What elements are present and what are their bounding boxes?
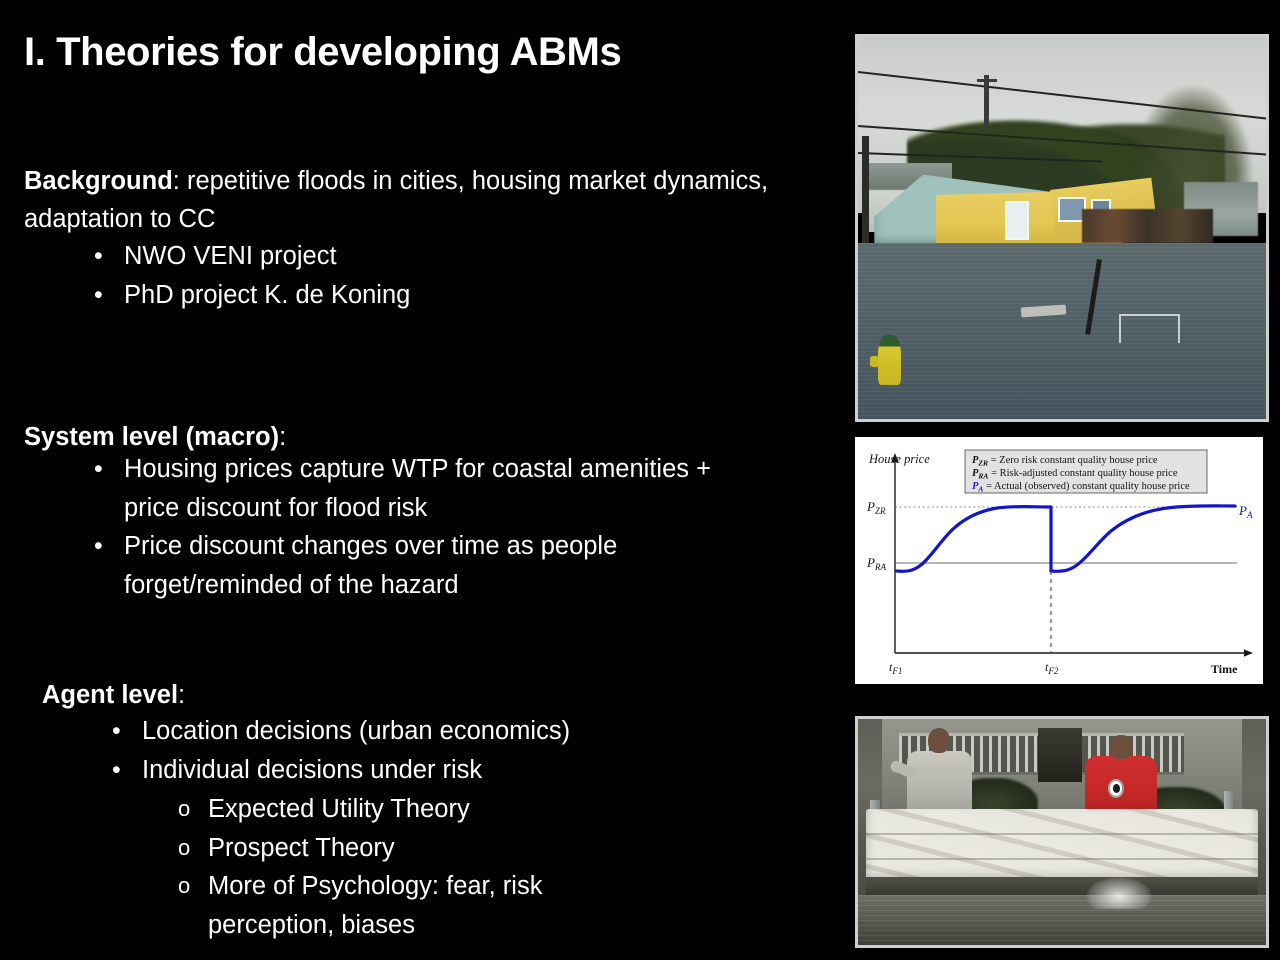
list-item: o Prospect Theory (178, 829, 648, 868)
x-axis-label: Time (1211, 662, 1238, 676)
water-splash (1086, 877, 1151, 909)
content-column: Background: repetitive floods in cities,… (0, 0, 840, 960)
fire-hydrant (878, 335, 900, 385)
head (928, 728, 951, 753)
chart-house-price: House price Time PZR PRA tF1 tF2 PA PZR … (855, 437, 1263, 684)
floodwater (858, 243, 1266, 419)
list-item-label: Price discount changes over time as peop… (124, 532, 617, 599)
chart-legend: PZR = Zero risk constant quality house p… (965, 450, 1207, 494)
bullet-marker: • (94, 450, 103, 489)
section-system-level-heading-suffix: : (279, 423, 286, 451)
list-item: • Price discount changes over time as pe… (94, 527, 714, 604)
sub-bullet-marker: o (178, 790, 190, 829)
section-agent-level-heading-suffix: : (178, 681, 185, 709)
list-item-label: Expected Utility Theory (208, 795, 470, 823)
house-window (1005, 201, 1029, 239)
section-agent-level-heading-row: Agent level: (42, 676, 185, 714)
bullet-marker: • (94, 527, 103, 566)
sub-bullet-list-agent-level: o Expected Utility Theory o Prospect The… (178, 790, 648, 944)
list-item: o Expected Utility Theory (178, 790, 648, 829)
list-item-label: Individual decisions under risk (142, 756, 482, 784)
submerged-railing (1119, 314, 1180, 343)
list-item: • NWO VENI project (94, 237, 794, 276)
section-background-paragraph: Background: repetitive floods in cities,… (24, 162, 814, 238)
list-item-label: Housing prices capture WTP for coastal a… (124, 455, 711, 522)
slide-root: I. Theories for developing ABMs Backgrou… (0, 0, 1280, 960)
bullet-marker: • (94, 276, 103, 315)
section-system-level-heading: System level (macro) (24, 423, 279, 451)
photo-sandbag-wall (855, 716, 1269, 948)
person-grey-shirt (915, 728, 964, 818)
photo-flooded-street (855, 34, 1269, 422)
y-axis-label: House price (868, 452, 930, 466)
section-background-heading: Background (24, 167, 173, 195)
sub-bullet-marker: o (178, 829, 190, 868)
doorway (1038, 728, 1083, 782)
utility-pole (984, 75, 989, 128)
list-item: • Individual decisions under risk (112, 751, 772, 790)
section-agent-level-heading: Agent level (42, 681, 178, 709)
list-item-label: More of Psychology: fear, risk perceptio… (208, 872, 542, 939)
legend-entry-pa: PA = Actual (observed) constant quality … (972, 481, 1190, 494)
bullet-list-system-level: • Housing prices capture WTP for coastal… (94, 450, 714, 604)
person-red-shirt (1095, 735, 1148, 821)
utility-pole (862, 136, 869, 251)
bullet-list-agent-level: • Location decisions (urban economics) •… (112, 712, 772, 789)
bullet-marker: • (112, 751, 121, 790)
list-item: o More of Psychology: fear, risk percept… (178, 867, 648, 944)
bullet-list-background: • NWO VENI project • PhD project K. de K… (94, 237, 794, 314)
head (1109, 735, 1132, 759)
list-item-label: Location decisions (urban economics) (142, 717, 570, 745)
list-item-label: NWO VENI project (124, 242, 337, 270)
bullet-marker: • (94, 237, 103, 276)
list-item: • Housing prices capture WTP for coastal… (94, 450, 714, 527)
floodwater (858, 895, 1266, 945)
debris-pile (1082, 209, 1213, 243)
sandbag-wall (866, 809, 1258, 881)
legend-entry-pra: PRA = Risk-adjusted constant quality hou… (972, 468, 1178, 481)
list-item: • PhD project K. de Koning (94, 276, 794, 315)
list-item: • Location decisions (urban economics) (112, 712, 772, 751)
list-item-label: PhD project K. de Koning (124, 281, 410, 309)
list-item-label: Prospect Theory (208, 834, 395, 862)
chart-svg: House price Time PZR PRA tF1 tF2 PA PZR … (855, 437, 1263, 684)
legend-entry-pzr: PZR = Zero risk constant quality house p… (972, 455, 1158, 468)
sub-bullet-marker: o (178, 867, 190, 906)
bullet-marker: • (112, 712, 121, 751)
